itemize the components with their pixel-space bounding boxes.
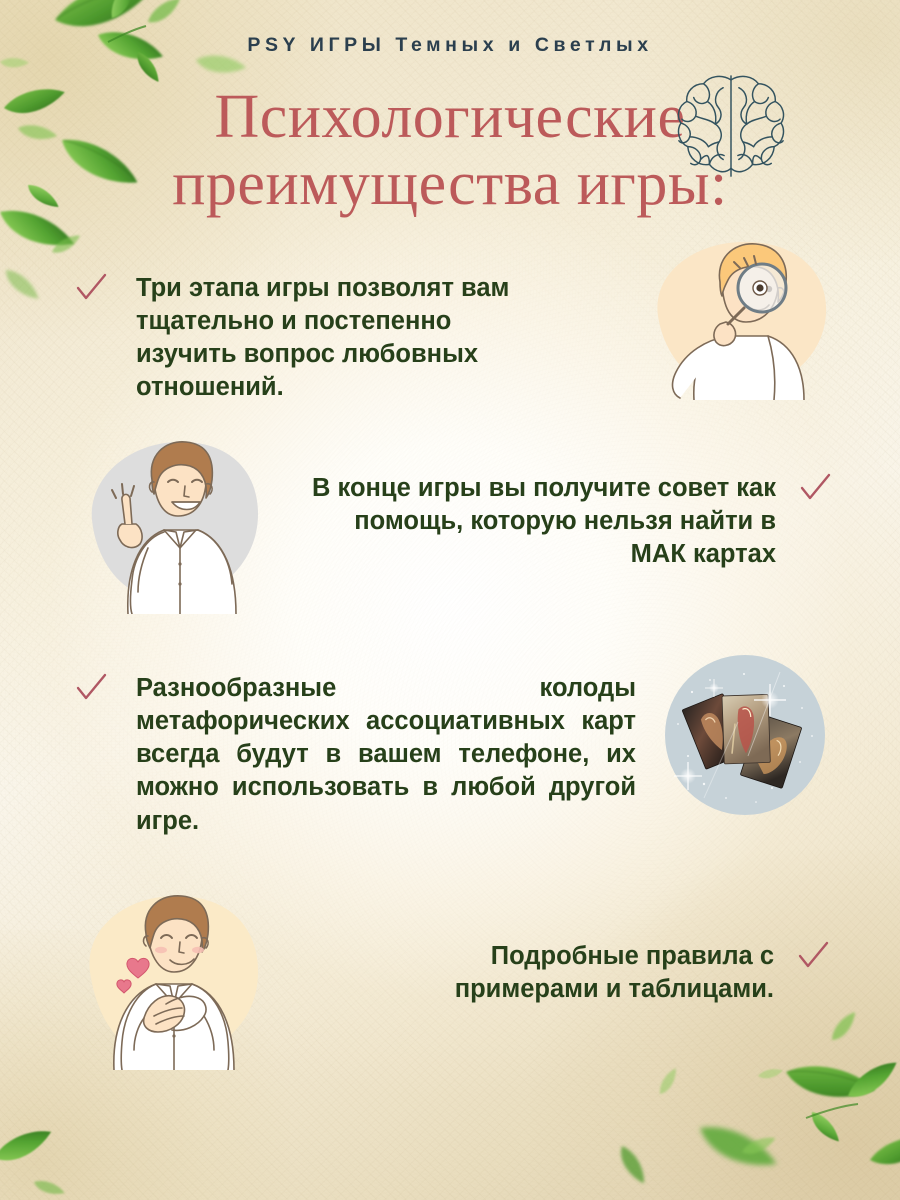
benefit-row-rules: Подробные правила с примерами и таблицам…: [330, 940, 830, 1006]
illustration-three-fantasy-cards: [652, 652, 838, 818]
benefit-row-advice: В конце игры вы получите совет как помощ…: [262, 472, 832, 571]
brain-icon: [672, 72, 790, 184]
benefit-row-stages: Три этапа игры позволят вам тщательно и …: [74, 272, 634, 405]
benefit-text: Три этапа игры позволят вам тщательно и …: [136, 272, 556, 405]
poster-canvas: PSY ИГРЫ Темных и Светлых Психологически…: [0, 0, 900, 1200]
illustration-man-hands-on-heart: [66, 886, 266, 1070]
check-icon: [74, 672, 108, 706]
check-icon: [74, 272, 108, 306]
kicker-text: PSY ИГРЫ Темных и Светлых: [0, 34, 900, 57]
benefit-row-decks: Разнообразные колоды метафорических ассо…: [74, 672, 654, 838]
title-line-1: Психологические: [215, 83, 686, 151]
illustration-person-with-magnifying-glass: [628, 232, 834, 400]
illustration-man-pointing-up: [72, 428, 268, 614]
benefit-text: Подробные правила с примерами и таблицам…: [374, 940, 774, 1006]
check-icon: [796, 940, 830, 974]
check-icon: [798, 472, 832, 506]
benefit-text: В конце игры вы получите совет как помощ…: [296, 472, 776, 571]
benefit-text: Разнообразные колоды метафорических ассо…: [136, 672, 636, 838]
